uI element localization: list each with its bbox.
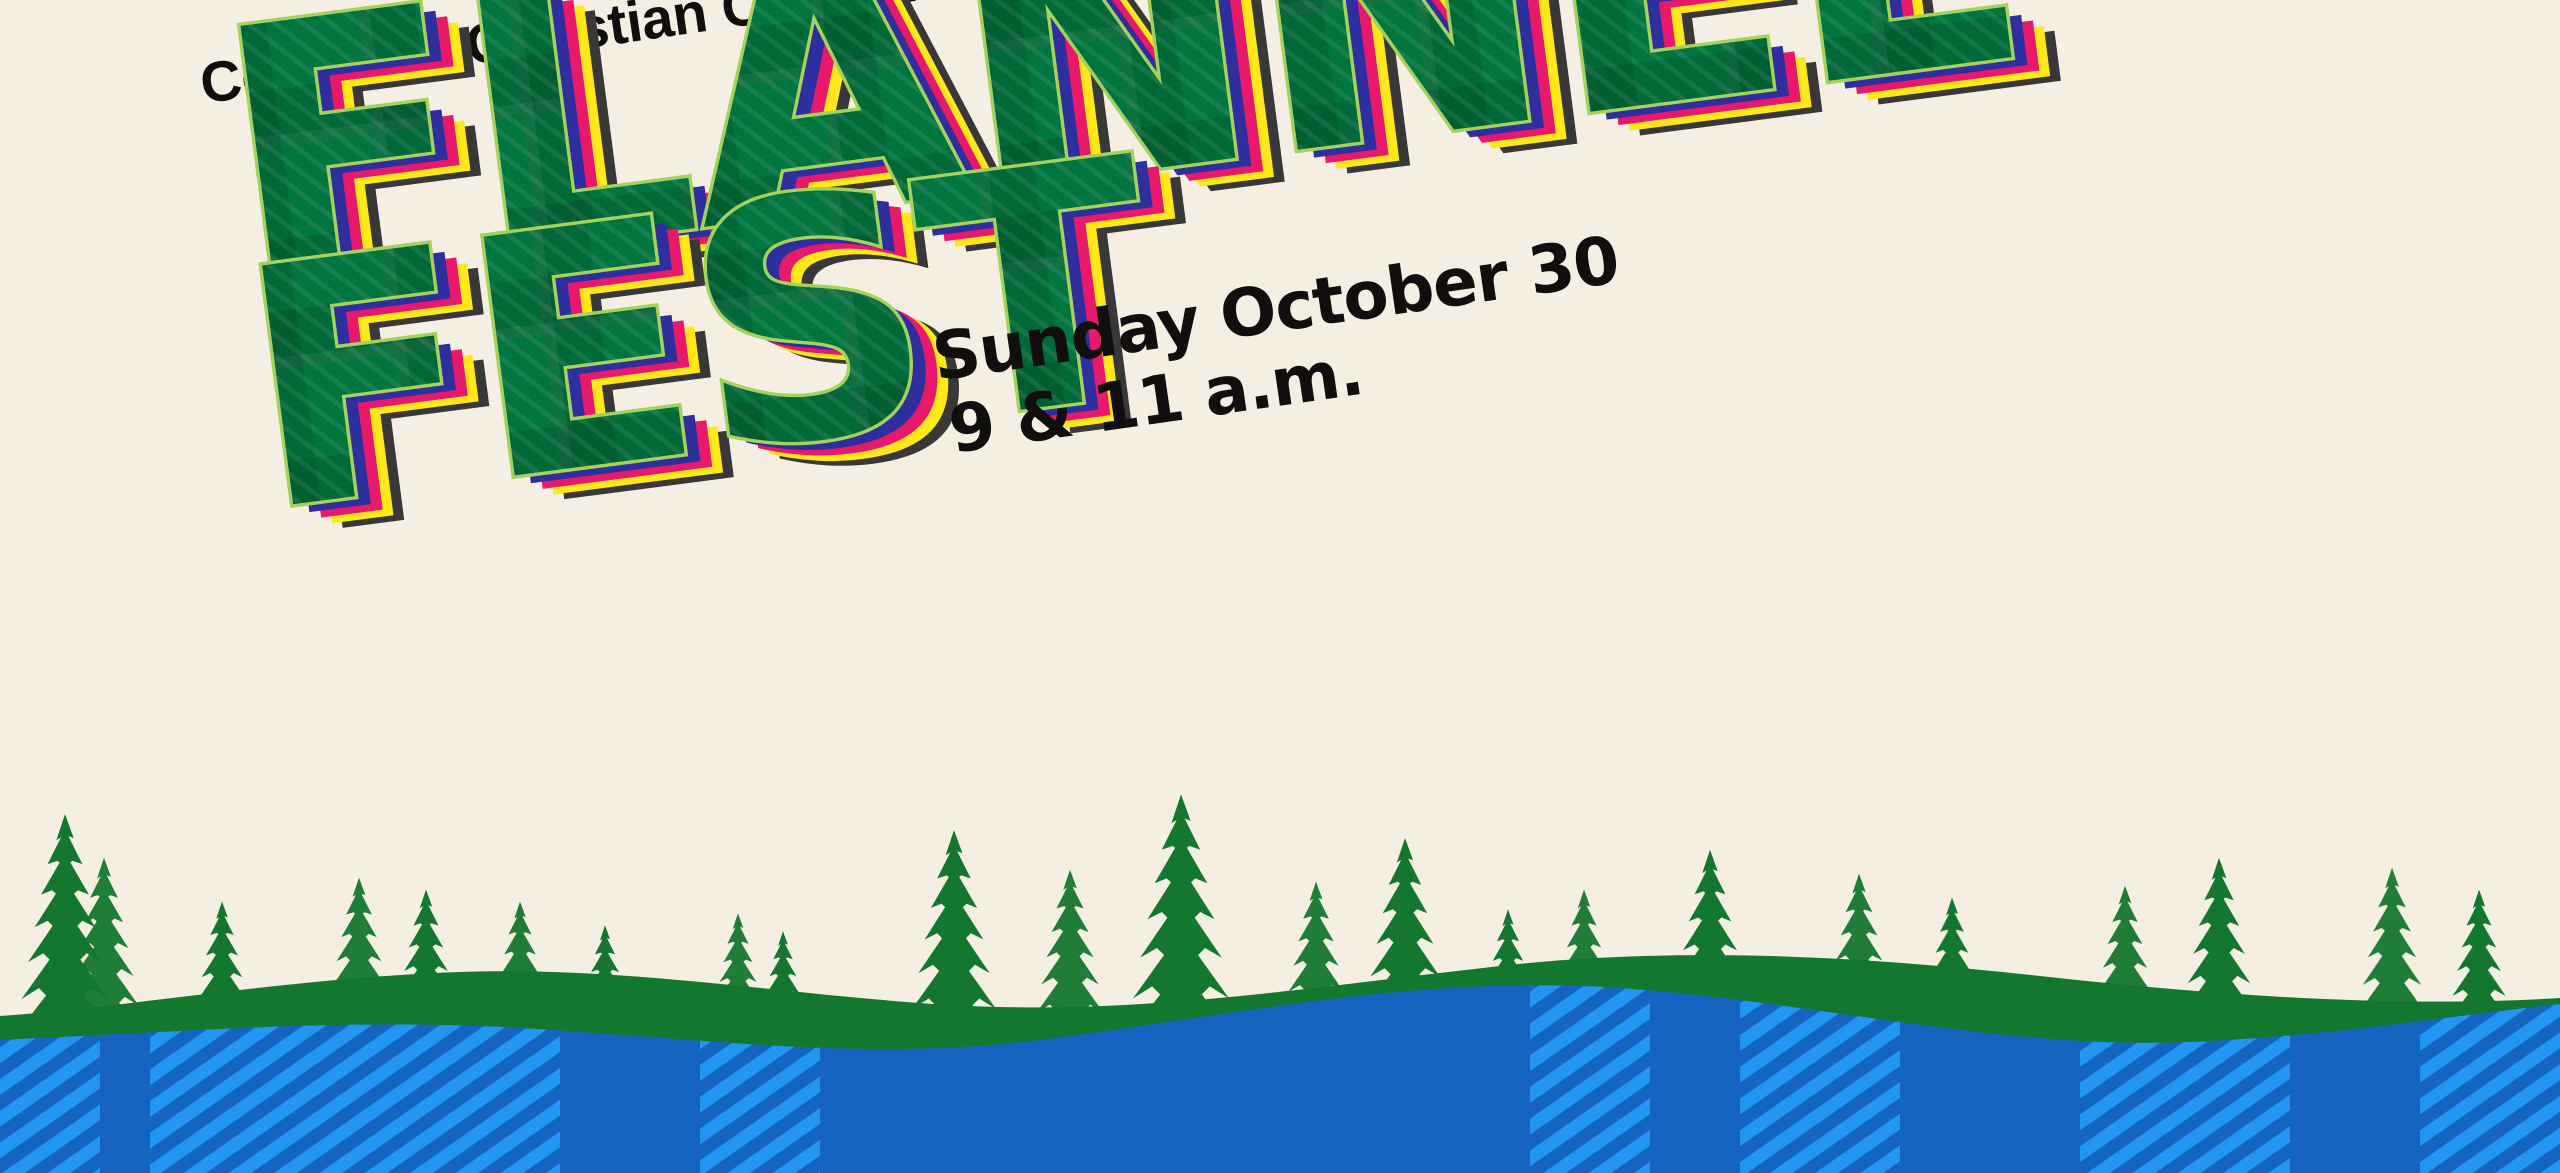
flannel-fest-banner: Compass Christian Church FLANNEL FLANNEL… <box>0 0 2560 1173</box>
